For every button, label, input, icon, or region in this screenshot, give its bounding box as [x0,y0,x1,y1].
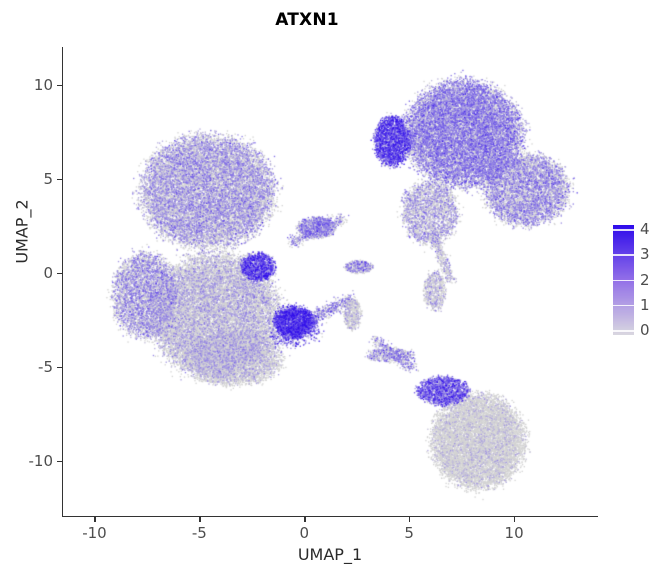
x-tick-mark [514,517,515,522]
x-tick-mark [199,517,200,522]
x-tick-label: 10 [505,524,524,542]
x-tick-label: -5 [192,524,207,542]
y-tick-mark [57,85,62,86]
x-axis-line [62,516,598,517]
legend-tick-mark [613,305,634,307]
legend-tick-mark [613,330,634,332]
x-tick-label: 5 [404,524,414,542]
y-tick-label: 10 [34,76,53,94]
y-tick-mark [57,179,62,180]
feature-plot-figure: ATXN1 -10-50510 1050-5-10 UMAP_1 UMAP_2 … [0,0,672,576]
legend-tick-label: 4 [640,220,650,238]
scatter-plot-panel [63,47,598,517]
y-tick-mark [57,461,62,462]
legend-tick-label: 1 [640,296,650,314]
x-tick-label: -10 [82,524,107,542]
x-tick-label: 0 [299,524,309,542]
legend-tick-mark [613,280,634,282]
y-tick-mark [57,273,62,274]
y-axis-label: UMAP_2 [13,172,32,292]
page-title: ATXN1 [0,10,614,30]
legend-tick-label: 3 [640,245,650,263]
color-legend: 43210 [610,225,668,337]
legend-tick-mark [613,254,634,256]
legend-tick-label: 0 [640,321,650,339]
x-axis-label: UMAP_1 [62,545,598,564]
y-tick-label: -10 [29,452,54,470]
x-tick-mark [304,517,305,522]
y-tick-label: 0 [43,264,53,282]
y-tick-label: -5 [38,358,53,376]
y-tick-mark [57,367,62,368]
legend-tick-mark [613,229,634,231]
y-tick-label: 5 [43,170,53,188]
x-tick-mark [94,517,95,522]
umap-scatter-canvas [63,47,598,517]
y-axis-line [62,47,63,517]
x-tick-mark [409,517,410,522]
legend-tick-label: 2 [640,271,650,289]
